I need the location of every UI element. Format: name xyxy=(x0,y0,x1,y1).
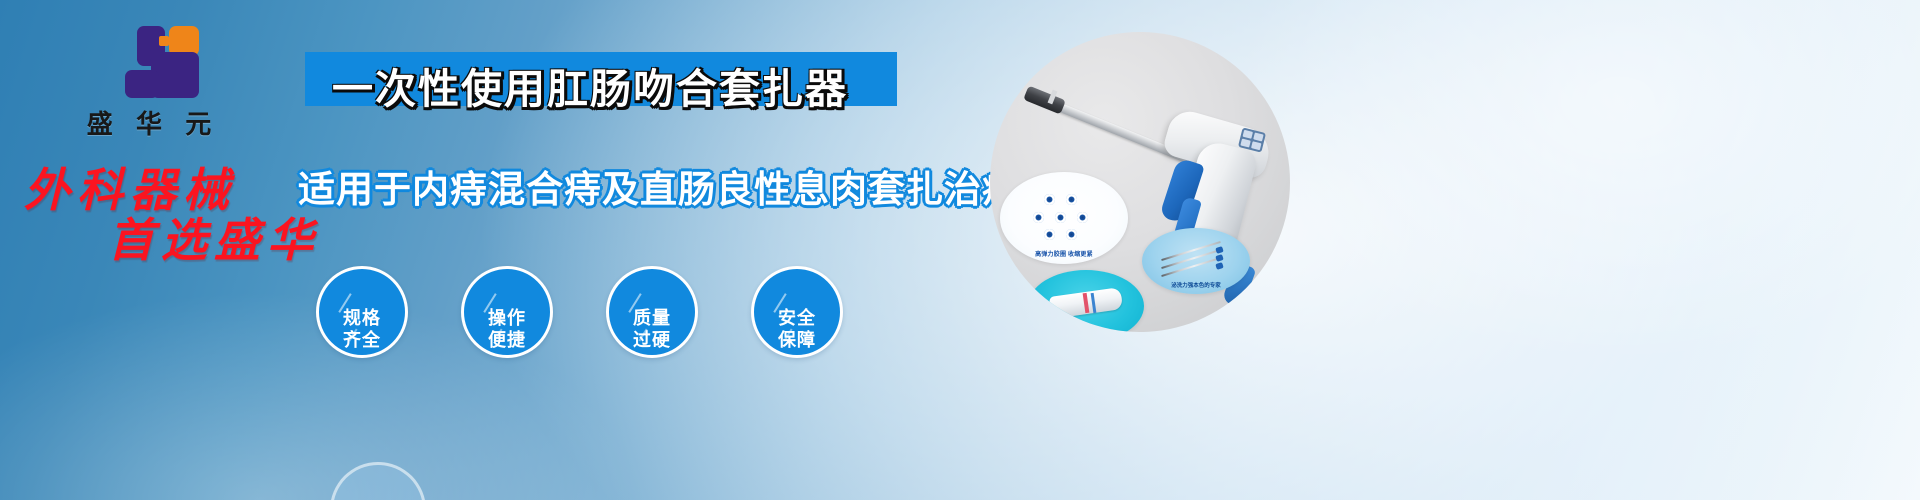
badge-label-line1: 规格 xyxy=(343,308,381,330)
inset-needles: 泌洗力强本色的专家 xyxy=(1142,228,1250,294)
badge-label-line2: 齐全 xyxy=(343,330,381,352)
background-glow-top-right xyxy=(1240,0,1920,360)
brand-logo[interactable]: 盛 华 元 xyxy=(68,26,238,136)
product-photo: 高弹力胶圈 收缩更紧 泌洗力强本色的专家 xyxy=(990,32,1290,332)
badge-label-line2: 过硬 xyxy=(633,330,671,352)
brand-name: 盛 华 元 xyxy=(68,104,238,141)
badge-label-line2: 保障 xyxy=(778,330,816,352)
feature-badge-specification[interactable]: 规格 齐全 xyxy=(316,266,408,358)
feature-badge-safety[interactable]: 安全 保障 xyxy=(751,266,843,358)
badge-label-line1: 操作 xyxy=(488,308,526,330)
inset-needles-label: 泌洗力强本色的专家 xyxy=(1142,281,1250,289)
badge-label-line1: 质量 xyxy=(633,308,671,330)
decorative-circle xyxy=(330,462,426,500)
feature-badge-list: 规格 齐全 操作 便捷 质量 过硬 安全 保障 xyxy=(316,266,843,358)
inset-rubber-rings-label: 高弹力胶圈 收缩更紧 xyxy=(1000,249,1128,258)
feature-badge-operation[interactable]: 操作 便捷 xyxy=(461,266,553,358)
promo-banner: 盛 华 元 外科器械 首选盛华 一次性使用肛肠吻合套扎器 适用于内痔混合痔及直肠… xyxy=(0,0,1920,500)
device-tip xyxy=(1023,86,1066,115)
subtitle: 适用于内痔混合痔及直肠良性息肉套扎治疗 xyxy=(298,159,1020,213)
slogan-line-2: 首选盛华 xyxy=(108,204,320,270)
inset-rubber-rings: 高弹力胶圈 收缩更紧 xyxy=(1000,172,1128,264)
badge-label-line1: 安全 xyxy=(778,308,816,330)
page-title: 一次性使用肛肠吻合套扎器 xyxy=(332,55,892,115)
feature-badge-quality[interactable]: 质量 过硬 xyxy=(606,266,698,358)
inset-cartridge xyxy=(1028,270,1144,332)
badge-label-line2: 便捷 xyxy=(488,330,526,352)
shenghuayuan-blocks-logo-icon xyxy=(107,26,199,98)
